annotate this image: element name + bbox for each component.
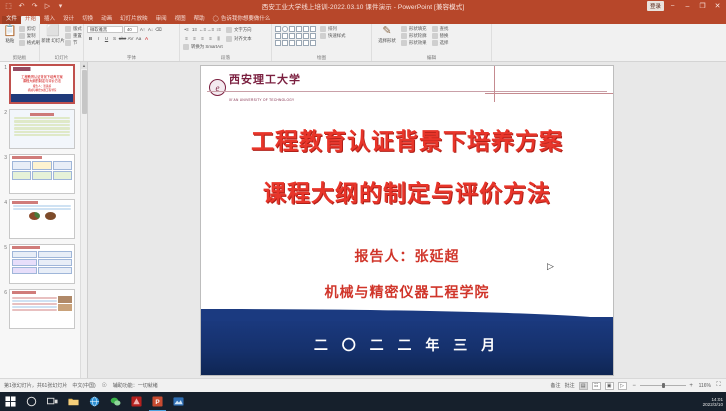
powerpoint-icon: P [152, 396, 163, 407]
accessibility-status[interactable]: 辅助功能：一切就绪 [113, 382, 158, 389]
pdf-reader-button[interactable] [126, 392, 147, 411]
shape-curve-icon[interactable] [296, 40, 302, 46]
tab-design[interactable]: 设计 [59, 16, 78, 25]
copy-label: 复制 [27, 33, 36, 39]
tab-animations[interactable]: 动画 [97, 16, 116, 25]
status-bar: 第1张幻灯片，共61张幻灯片 中文(中国) ☉ 辅助功能：一切就绪 备注 批注 … [0, 378, 726, 392]
search-circle-icon [26, 396, 37, 407]
shape-effects-button[interactable]: 形状效果 [401, 40, 427, 46]
tab-file[interactable]: 文件 [2, 16, 21, 25]
slide-footer-band: 二 〇 二 二 年 三 月 [201, 317, 613, 375]
clipboard-group-label: 剪贴板 [3, 55, 36, 61]
zoom-track[interactable] [640, 385, 686, 386]
increase-indent-button[interactable]: →≡ [207, 26, 214, 33]
shape-chevron-icon[interactable] [303, 33, 309, 39]
copy-button[interactable]: 复制 [19, 33, 40, 39]
shrink-font-button[interactable]: A↓ [147, 26, 154, 33]
strikethrough-button[interactable]: abc [119, 35, 126, 42]
shape-fill-button[interactable]: 形状填充 [401, 26, 427, 32]
italic-button[interactable]: I [95, 35, 102, 42]
slide-number: 6 [0, 289, 9, 296]
list-item[interactable]: 2 [0, 109, 87, 149]
meeting-icon [173, 396, 184, 407]
justify-button[interactable]: ≡ [207, 35, 214, 42]
bold-button[interactable]: B [87, 35, 94, 42]
find-label: 查找 [440, 26, 449, 32]
cortana-button[interactable] [21, 392, 42, 411]
ribbon-group-paragraph: •≡ 1≡ ←≡ →≡ ↕≡ 文字方向 ≡ ≡ ≡ ≡ ⫼ [180, 24, 272, 61]
replace-label: 替换 [440, 33, 449, 39]
shape-pentagon-icon[interactable] [282, 40, 288, 46]
fit-to-window-icon[interactable]: ⛶ [715, 382, 722, 389]
tab-transitions[interactable]: 切换 [78, 16, 97, 25]
windows-taskbar: P 14:01 2022/3/10 [0, 392, 726, 411]
select-shape-button[interactable]: ✎ 选择形状 [375, 26, 399, 44]
list-item[interactable]: 6 [0, 289, 87, 329]
text-direction-icon [226, 27, 232, 33]
align-center-button[interactable]: ≡ [191, 35, 198, 42]
slide-editing-area[interactable]: e 西安理工大学 XI'AN UNIVERSITY OF TECHNOLOGY … [88, 62, 726, 378]
reset-icon [65, 33, 71, 39]
reset-label: 重置 [73, 33, 82, 39]
bullets-button[interactable]: •≡ [183, 26, 190, 33]
new-slide-button[interactable]: ⬜ 新建 幻灯片 [43, 26, 63, 44]
ribbon: 📋 粘贴 剪切 复制 格式刷 [0, 24, 726, 62]
meeting-app-button[interactable] [168, 392, 189, 411]
slide-department[interactable]: 机械与精密仪器工程学院 [201, 282, 613, 302]
task-view-icon [47, 396, 58, 407]
language-indicator[interactable]: 中文(中国) [72, 382, 95, 389]
section-label: 节 [73, 40, 77, 46]
tab-help[interactable]: 帮助 [190, 16, 209, 25]
shape-plus-icon[interactable] [310, 33, 316, 39]
cut-icon [19, 26, 25, 32]
arrange-button[interactable]: 排列 [320, 26, 346, 32]
paragraph-group-label: 段落 [183, 55, 268, 61]
thumb-footer-band [11, 94, 73, 102]
columns-button[interactable]: ⫼ [215, 35, 222, 42]
zoom-slider[interactable]: − + [631, 382, 695, 389]
find-icon [432, 26, 438, 32]
thumb-dept: 机械与精密仪器工程学院 [11, 89, 73, 93]
slide-number: 3 [0, 154, 9, 161]
close-button[interactable]: ✕ [711, 1, 724, 12]
shape-callout-icon[interactable] [275, 33, 281, 39]
slide-thumbnail-3[interactable] [9, 154, 75, 194]
section-icon [65, 40, 71, 46]
new-slide-icon: ⬜ [46, 26, 60, 37]
slide-thumbnail-1[interactable]: 工程教育认证背景下培养方案 课程大纲的制定与评价方法 报告人：张延超 机械与精密… [9, 64, 75, 104]
tab-slideshow[interactable]: 幻灯片放映 [116, 16, 152, 25]
folder-icon [68, 396, 79, 407]
font-size-combo[interactable]: 40 [124, 26, 138, 33]
slide-thumbnail-4[interactable] [9, 199, 75, 239]
format-painter-button[interactable]: 格式刷 [19, 40, 40, 46]
font-group-label: 字体 [87, 55, 176, 61]
zoom-knob[interactable] [662, 383, 665, 388]
lightbulb-icon: ◯ [213, 17, 219, 23]
document-title: 西安工业大学线上培训-2022.03.10 课件演示 - PowerPoint … [0, 1, 726, 11]
shape-outline-icon [401, 33, 407, 39]
select-icon [432, 40, 438, 46]
slide-number: 2 [0, 109, 9, 116]
select-shape-label: 选择形状 [378, 38, 396, 44]
shapes-gallery[interactable] [275, 26, 316, 46]
list-item[interactable]: 1 工程教育认证背景下培养方案 课程大纲的制定与评价方法 报告人：张延超 机械与… [0, 64, 87, 104]
shape-effects-icon [401, 40, 407, 46]
guide-line-vertical [494, 66, 495, 102]
tab-home[interactable]: 开始 [21, 16, 40, 25]
cut-button[interactable]: 剪切 [19, 26, 40, 32]
change-case-button[interactable]: Aa [135, 35, 142, 42]
quick-styles-label: 快速样式 [328, 33, 346, 39]
shape-hexagon-icon[interactable] [289, 40, 295, 46]
shape-cylinder-icon[interactable] [296, 33, 302, 39]
slide-thumbnail-2[interactable] [9, 109, 75, 149]
smartart-label: 转换为 SmartArt [191, 44, 223, 50]
font-color-button[interactable]: A [143, 35, 150, 42]
scroll-up-arrow-icon[interactable]: ▲ [81, 62, 87, 69]
decrease-indent-button[interactable]: ←≡ [199, 26, 206, 33]
powerpoint-window: ⬚ ↶ ↷ ▷ ▾ 西安工业大学线上培训-2022.03.10 课件演示 - P… [0, 0, 726, 411]
shape-freeform-icon[interactable] [303, 40, 309, 46]
tab-view[interactable]: 视图 [171, 16, 190, 25]
mouse-cursor-icon: ▷ [547, 262, 553, 271]
university-name-cn: 西安理工大学 [229, 74, 301, 86]
replace-button[interactable]: 替换 [432, 33, 449, 39]
ribbon-group-font: 微软雅黑 40 A↑ A↓ ⌫ B I U S abc AV Aa A 字体 [84, 24, 180, 61]
tab-insert[interactable]: 插入 [40, 16, 59, 25]
paste-label: 粘贴 [5, 38, 14, 44]
new-slide-label: 新建 幻灯片 [41, 38, 64, 44]
sign-in-button[interactable]: 登录 [647, 1, 664, 11]
drawing-group-label: 绘图 [275, 55, 368, 61]
title-bar: ⬚ ↶ ↷ ▷ ▾ 西安工业大学线上培训-2022.03.10 课件演示 - P… [0, 0, 726, 12]
scrollbar-thumb[interactable] [82, 70, 87, 114]
slide-thumbnail-pane[interactable]: 1 工程教育认证背景下培养方案 课程大纲的制定与评价方法 报告人：张延超 机械与… [0, 62, 88, 378]
ribbon-group-editing: ✎ 选择形状 形状填充 形状轮廓 形状效果 [372, 24, 492, 61]
reading-view-button[interactable]: ▣ [605, 382, 614, 390]
shape-banner-icon[interactable] [282, 33, 288, 39]
shape-more-icon[interactable] [310, 40, 316, 46]
text-direction-label: 文字方向 [234, 27, 252, 33]
university-name-en: XI'AN UNIVERSITY OF TECHNOLOGY [229, 98, 294, 102]
shape-oval-icon[interactable] [282, 26, 288, 32]
slide-sorter-button[interactable]: ☷ [592, 382, 601, 390]
header-divider [207, 91, 607, 92]
zoom-level[interactable]: 116% [699, 383, 711, 389]
section-button[interactable]: 节 [65, 40, 82, 46]
copy-icon [19, 33, 25, 39]
svg-text:P: P [155, 399, 160, 406]
accessibility-icon[interactable]: ☉ [101, 382, 108, 389]
normal-view-button[interactable]: ▤ [579, 382, 588, 390]
current-slide[interactable]: e 西安理工大学 XI'AN UNIVERSITY OF TECHNOLOGY … [200, 65, 614, 376]
task-view-button[interactable] [42, 392, 63, 411]
quick-styles-button[interactable]: 快速样式 [320, 33, 346, 39]
tab-review[interactable]: 审阅 [152, 16, 171, 25]
minimize-button[interactable]: – [681, 1, 694, 12]
layout-icon [65, 26, 71, 32]
list-item[interactable]: 5 [0, 244, 87, 284]
start-button[interactable] [0, 392, 21, 411]
comments-button[interactable]: 批注 [565, 382, 575, 389]
window-controls: 登录 − – ❐ ✕ [647, 0, 724, 12]
editing-group-label: 编辑 [375, 55, 488, 61]
tell-me-label: 告诉我你想要做什么 [221, 17, 271, 23]
shape-rect-icon[interactable] [275, 26, 281, 32]
powerpoint-button[interactable]: P [147, 392, 168, 411]
replace-icon [432, 33, 438, 39]
shape-outline-button[interactable]: 形状轮廓 [401, 33, 427, 39]
browser-button[interactable] [84, 392, 105, 411]
guide-line-horizontal [485, 93, 614, 94]
select-label: 选择 [440, 40, 449, 46]
file-explorer-button[interactable] [63, 392, 84, 411]
grow-font-button[interactable]: A↑ [139, 26, 146, 33]
numbering-button[interactable]: 1≡ [191, 26, 198, 33]
paste-icon: 📋 [3, 26, 17, 37]
layout-button[interactable]: 版式 [65, 26, 82, 32]
cut-label: 剪切 [27, 26, 36, 32]
taskbar-clock[interactable]: 14:01 2022/3/10 [703, 397, 723, 407]
align-left-button[interactable]: ≡ [183, 35, 190, 42]
ribbon-group-drawing: 排列 快速样式 绘图 [272, 24, 372, 61]
pdf-icon [131, 396, 142, 407]
align-text-icon [226, 36, 232, 42]
slide-number: 4 [0, 199, 9, 206]
shape-effects-label: 形状效果 [409, 40, 427, 46]
arrange-label: 排列 [328, 26, 337, 32]
shape-star-icon[interactable] [310, 26, 316, 32]
shapes-icon: ✎ [382, 26, 391, 37]
slide-thumbnail-5[interactable] [9, 244, 75, 284]
workspace: 1 工程教育认证背景下培养方案 课程大纲的制定与评价方法 报告人：张延超 机械与… [0, 62, 726, 378]
font-name-combo[interactable]: 微软雅黑 [87, 26, 123, 33]
align-text-label: 对齐文本 [234, 36, 252, 42]
zoom-in-button[interactable]: + [688, 382, 695, 389]
university-seal-icon: e [209, 79, 226, 96]
character-spacing-button[interactable]: AV [127, 35, 134, 42]
notes-button[interactable]: 备注 [551, 382, 561, 389]
slide-title-line-2[interactable]: 课程大纲的制定与评价方法 [201, 174, 613, 208]
slide-thumbnail-6[interactable] [9, 289, 75, 329]
arrange-icon [320, 26, 326, 32]
zoom-out-button[interactable]: − [631, 382, 638, 389]
tell-me-search-box[interactable]: ◯ 告诉我你想要做什么 [209, 16, 275, 25]
university-logo: e 西安理工大学 XI'AN UNIVERSITY OF TECHNOLOGY [209, 70, 301, 106]
slide-number: 5 [0, 244, 9, 251]
thumbnail-scrollbar[interactable]: ▲ [80, 62, 87, 378]
globe-icon [89, 396, 100, 407]
ribbon-group-slides: ⬜ 新建 幻灯片 版式 重置 节 [40, 24, 84, 61]
shape-fill-label: 形状填充 [409, 26, 427, 32]
list-item[interactable]: 3 [0, 154, 87, 194]
align-right-button[interactable]: ≡ [199, 35, 206, 42]
list-item[interactable]: 4 [0, 199, 87, 239]
shadow-button[interactable]: S [111, 35, 118, 42]
shape-triangle-icon[interactable] [303, 26, 309, 32]
ribbon-tab-strip: 文件 开始 插入 设计 切换 动画 幻灯片放映 审阅 视图 帮助 ◯ 告诉我你想… [0, 12, 726, 24]
smartart-icon [183, 44, 189, 50]
wechat-button[interactable] [105, 392, 126, 411]
align-text-button[interactable]: 对齐文本 [226, 36, 252, 42]
shape-fill-icon [401, 26, 407, 32]
tray-date: 2022/3/10 [703, 402, 723, 407]
text-direction-button[interactable]: 文字方向 [226, 27, 252, 33]
convert-smartart-button[interactable]: 转换为 SmartArt [183, 44, 223, 50]
reset-button[interactable]: 重置 [65, 33, 82, 39]
slide-number: 1 [0, 64, 9, 71]
shape-diamond-icon[interactable] [275, 40, 281, 46]
slide-title-line-1[interactable]: 工程教育认证背景下培养方案 [201, 122, 613, 156]
slide-date[interactable]: 二 〇 二 二 年 三 月 [201, 335, 613, 355]
find-button[interactable]: 查找 [432, 26, 449, 32]
clear-formatting-button[interactable]: ⌫ [155, 26, 162, 33]
thumb-logo [13, 67, 71, 71]
paste-button[interactable]: 📋 粘贴 [3, 26, 17, 44]
wechat-icon [110, 396, 121, 407]
restore-button[interactable]: ❐ [696, 1, 709, 12]
shape-cube-icon[interactable] [289, 33, 295, 39]
slideshow-button[interactable]: ▷ [618, 382, 627, 390]
slides-group-label: 幻灯片 [43, 55, 80, 61]
thumb-title-line2: 课程大纲的制定与评价方法 [11, 79, 73, 83]
system-tray: 14:01 2022/3/10 [703, 397, 726, 407]
ribbon-group-clipboard: 📋 粘贴 剪切 复制 格式刷 [0, 24, 40, 61]
layout-label: 版式 [73, 26, 82, 32]
shape-line-icon[interactable] [296, 26, 302, 32]
select-button[interactable]: 选择 [432, 40, 449, 46]
shape-outline-label: 形状轮廓 [409, 33, 427, 39]
underline-button[interactable]: U [103, 35, 110, 42]
windows-logo-icon [5, 396, 16, 407]
quick-styles-icon [320, 33, 326, 39]
format-painter-label: 格式刷 [27, 40, 40, 46]
ribbon-display-options-button[interactable]: − [666, 1, 679, 12]
line-spacing-button[interactable]: ↕≡ [215, 26, 222, 33]
shape-arrow-icon[interactable] [289, 26, 295, 32]
slide-counter: 第1张幻灯片，共61张幻灯片 [4, 382, 67, 389]
format-painter-icon [19, 40, 25, 46]
